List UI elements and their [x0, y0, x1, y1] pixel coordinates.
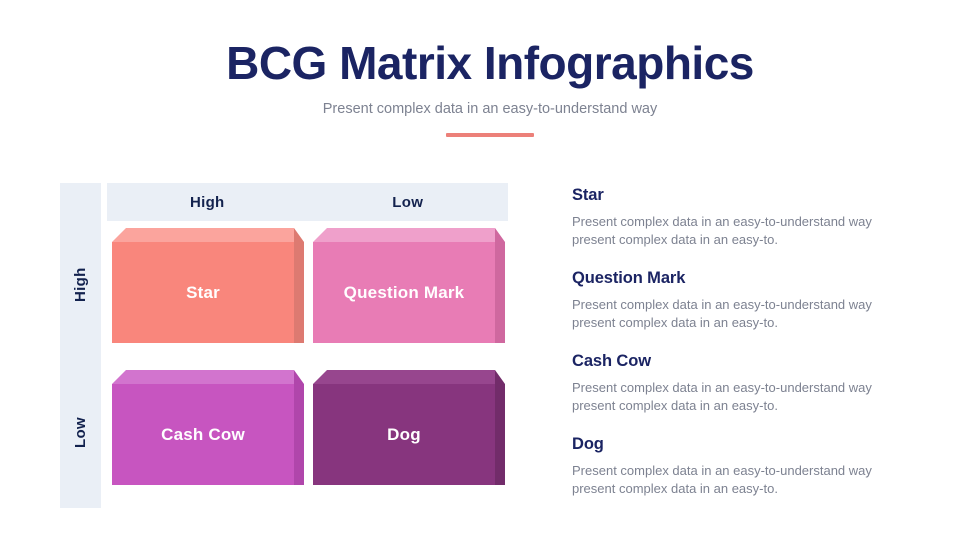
- description-body-dog: Present complex data in an easy-to-under…: [572, 462, 910, 498]
- quadrant-cash-cow[interactable]: Cash Cow: [112, 370, 294, 485]
- description-heading-cash-cow: Cash Cow: [572, 352, 922, 371]
- quadrant-question-mark-front-face: Question Mark: [313, 242, 495, 343]
- quadrant-star-label: Star: [186, 282, 220, 304]
- quadrant-dog-label: Dog: [387, 424, 421, 446]
- description-heading-dog: Dog: [572, 435, 922, 454]
- quadrant-cash-cow-top-face: [112, 370, 294, 384]
- quadrant-dog[interactable]: Dog: [313, 370, 495, 485]
- page-title: BCG Matrix Infographics: [0, 0, 980, 89]
- matrix-column-label-high: High: [107, 183, 308, 221]
- quadrant-star-front-face: Star: [112, 242, 294, 343]
- quadrant-star-top-face: [112, 228, 294, 242]
- quadrant-star-side-face: [294, 228, 304, 343]
- header: BCG Matrix Infographics Present complex …: [0, 0, 980, 137]
- matrix-row-label-high: High: [60, 215, 101, 355]
- page-subtitle: Present complex data in an easy-to-under…: [0, 89, 980, 117]
- matrix-column-label-low: Low: [308, 183, 509, 221]
- matrix-column-label-band: High Low: [107, 183, 508, 221]
- description-body-star: Present complex data in an easy-to-under…: [572, 213, 910, 249]
- title-accent-bar: [446, 133, 534, 137]
- bcg-matrix: High Low High Low Star Question Mark Ca: [60, 183, 510, 509]
- description-item-cash-cow: Cash Cow Present complex data in an easy…: [572, 352, 922, 415]
- description-heading-star: Star: [572, 186, 922, 205]
- quadrant-cash-cow-front-face: Cash Cow: [112, 384, 294, 485]
- quadrant-question-mark-side-face: [495, 228, 505, 343]
- quadrant-question-mark-label: Question Mark: [344, 282, 465, 304]
- description-body-question-mark: Present complex data in an easy-to-under…: [572, 296, 910, 332]
- quadrant-dog-side-face: [495, 370, 505, 485]
- description-list: Star Present complex data in an easy-to-…: [572, 186, 922, 498]
- matrix-row-label-low: Low: [60, 363, 101, 503]
- quadrant-dog-front-face: Dog: [313, 384, 495, 485]
- description-item-dog: Dog Present complex data in an easy-to-u…: [572, 435, 922, 498]
- matrix-row-label-rail: High Low: [60, 183, 101, 508]
- quadrant-question-mark-top-face: [313, 228, 495, 242]
- description-body-cash-cow: Present complex data in an easy-to-under…: [572, 379, 910, 415]
- quadrant-star[interactable]: Star: [112, 228, 294, 343]
- quadrant-dog-top-face: [313, 370, 495, 384]
- quadrant-cash-cow-label: Cash Cow: [161, 424, 245, 446]
- quadrant-question-mark[interactable]: Question Mark: [313, 228, 495, 343]
- quadrant-cash-cow-side-face: [294, 370, 304, 485]
- description-item-star: Star Present complex data in an easy-to-…: [572, 186, 922, 249]
- description-item-question-mark: Question Mark Present complex data in an…: [572, 269, 922, 332]
- description-heading-question-mark: Question Mark: [572, 269, 922, 288]
